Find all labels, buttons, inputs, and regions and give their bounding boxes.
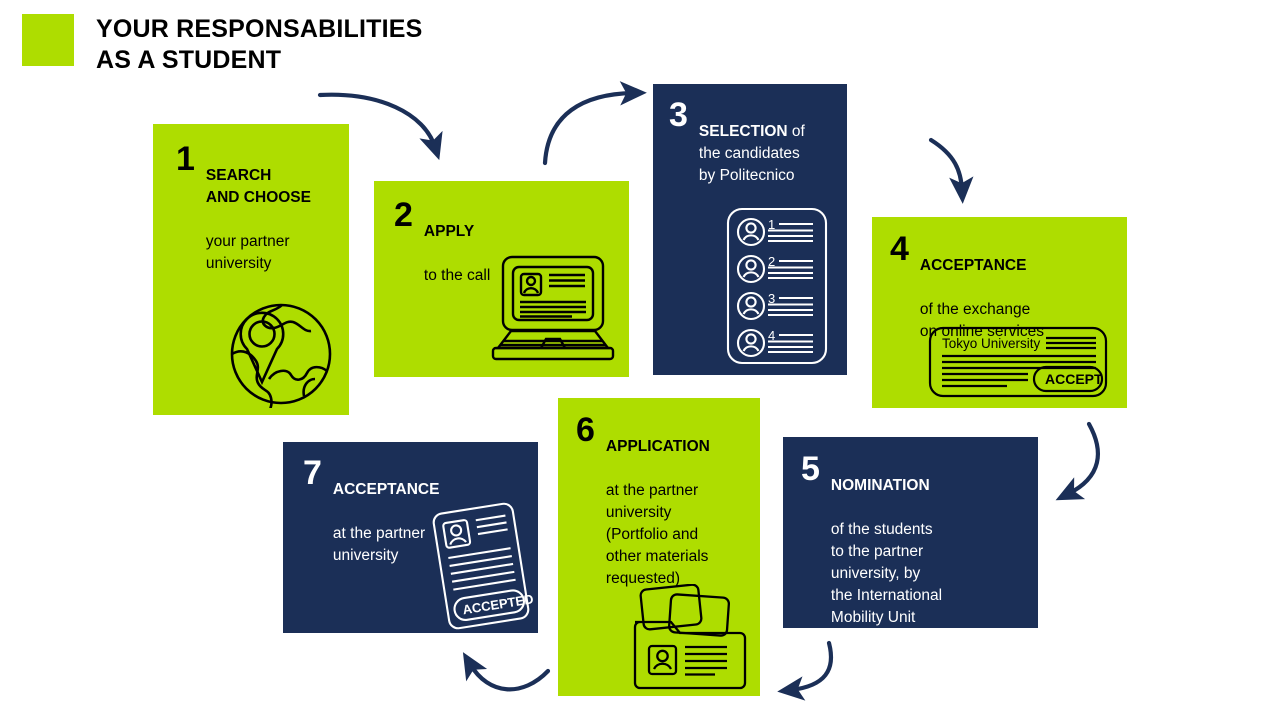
globe-pin-icon	[209, 278, 339, 413]
rank-label-4: 4	[768, 328, 775, 343]
step-7-text: ACCEPTANCE at the partner university	[333, 457, 440, 567]
step-card-4[interactable]: 4 ACCEPTANCE of the exchange on online s…	[872, 217, 1127, 408]
rank-label-2: 2	[768, 254, 775, 269]
rank-label-1: 1	[768, 217, 775, 232]
step-6-body: at the partner university (Portfolio and…	[606, 482, 709, 587]
folder-documents-icon	[630, 584, 750, 696]
step-2-heading: APPLY	[424, 223, 474, 240]
step-3-header: 3 SELECTION of the candidates by Politec…	[669, 99, 837, 187]
arrow-step3-to-step4	[931, 140, 962, 190]
step-card-2[interactable]: 2 APPLY to the call	[374, 181, 629, 377]
step-1-number: 1	[176, 143, 195, 175]
brand-swatch	[22, 14, 74, 66]
step-1-body: your partner university	[206, 233, 290, 272]
step-4-text: ACCEPTANCE of the exchange on online ser…	[920, 233, 1044, 343]
step-3-text: SELECTION of the candidates by Politecni…	[699, 99, 805, 187]
arrow-step2-to-step3	[545, 93, 633, 163]
step-card-1[interactable]: 1 SEARCH AND CHOOSE your partner univers…	[153, 124, 349, 415]
arrow-step6-to-step7	[470, 664, 548, 689]
step-7-header: 7 ACCEPTANCE at the partner university	[303, 457, 528, 567]
step-6-text: APPLICATION at the partner university (P…	[606, 414, 710, 590]
candidate-ranking-list-icon: 1 2 3 4	[725, 206, 829, 371]
step-6-header: 6 APPLICATION at the partner university …	[576, 414, 752, 590]
step-1-header: 1 SEARCH AND CHOOSE your partner univers…	[176, 143, 337, 275]
step-7-number: 7	[303, 457, 322, 489]
step-5-text: NOMINATION of the students to the partne…	[831, 453, 942, 628]
step-5-heading: NOMINATION	[831, 477, 930, 494]
step-card-6[interactable]: 6 APPLICATION at the partner university …	[558, 398, 760, 696]
step-2-number: 2	[394, 199, 413, 231]
arrow-step5-to-step6	[791, 643, 831, 690]
step-2-text: APPLY to the call	[424, 199, 490, 287]
step-1-text: SEARCH AND CHOOSE your partner universit…	[206, 143, 311, 275]
arrow-step4-to-step5	[1068, 424, 1098, 494]
step-2-body: to the call	[424, 267, 490, 284]
step-4-heading: ACCEPTANCE	[920, 257, 1027, 274]
step-card-3[interactable]: 3 SELECTION of the candidates by Politec…	[653, 84, 847, 375]
step-4-header: 4 ACCEPTANCE of the exchange on online s…	[890, 233, 1117, 343]
step-4-number: 4	[890, 233, 909, 265]
step-1-heading: SEARCH AND CHOOSE	[206, 167, 311, 206]
step-5-number: 5	[801, 453, 820, 485]
step-5-header: 5 NOMINATION of the students to the part…	[801, 453, 1026, 628]
step-3-heading: SELECTION	[699, 123, 788, 140]
step-7-body: at the partner university	[333, 525, 425, 564]
step-5-body: of the students to the partner universit…	[831, 521, 942, 628]
rank-label-3: 3	[768, 291, 775, 306]
acceptance-card-accept-button: ACCEPT	[1045, 371, 1103, 387]
step-4-body: of the exchange on online services	[920, 301, 1044, 340]
step-card-5[interactable]: 5 NOMINATION of the students to the part…	[783, 437, 1038, 628]
step-3-number: 3	[669, 99, 688, 131]
accepted-stamp-label: ACCEPTED	[461, 591, 534, 617]
step-card-7[interactable]: 7 ACCEPTANCE at the partner university A…	[283, 442, 538, 633]
step-2-header: 2 APPLY to the call	[394, 199, 617, 287]
step-7-heading: ACCEPTANCE	[333, 481, 440, 498]
page-title: YOUR RESPONSABILITIES AS A STUDENT	[96, 14, 422, 75]
page-header: YOUR RESPONSABILITIES AS A STUDENT	[22, 14, 422, 75]
step-6-heading: APPLICATION	[606, 438, 710, 455]
step-6-number: 6	[576, 414, 595, 446]
